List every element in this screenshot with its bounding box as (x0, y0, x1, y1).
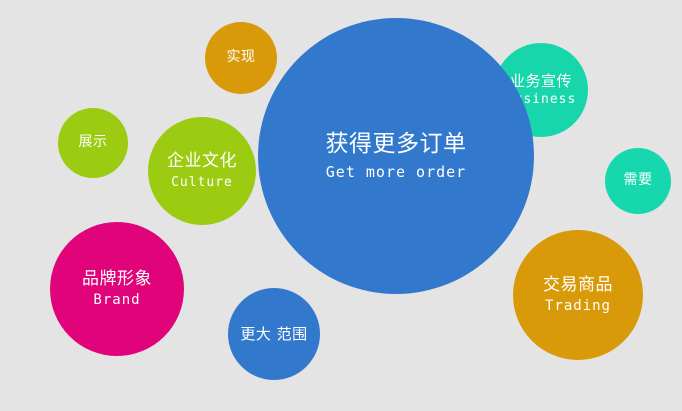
bubble-realize-label-cn: 实现 (227, 49, 256, 66)
bubble-main-label-cn: 获得更多订单 (326, 130, 467, 158)
bubble-scope[interactable]: 更大 范围 (228, 288, 320, 380)
bubble-main-label-en: Get more order (326, 163, 466, 181)
bubble-culture-label-cn: 企业文化 (167, 151, 237, 172)
bubble-brand-label-cn: 品牌形象 (82, 269, 152, 290)
bubble-scope-label-cn: 更大 范围 (240, 325, 307, 343)
bubble-need-label-cn: 需要 (624, 172, 653, 189)
bubble-culture[interactable]: 企业文化 Culture (148, 117, 256, 225)
bubble-need[interactable]: 需要 (605, 148, 671, 214)
bubble-brand-label-en: Brand (93, 292, 140, 309)
bubble-trading-label-cn: 交易商品 (543, 275, 613, 296)
bubble-trading[interactable]: 交易商品 Trading (513, 230, 643, 360)
bubble-main-get-more-order[interactable]: 获得更多订单 Get more order (258, 18, 534, 294)
bubble-brand[interactable]: 品牌形象 Brand (50, 222, 184, 356)
bubble-culture-label-en: Culture (171, 175, 233, 191)
bubble-diagram-canvas: 实现 展示 业务宣传 Business 需要 企业文化 Culture 获得更多… (0, 0, 682, 411)
bubble-trading-label-en: Trading (545, 298, 611, 315)
bubble-display[interactable]: 展示 (58, 108, 128, 178)
bubble-display-label-cn: 展示 (79, 134, 108, 151)
bubble-business-label-cn: 业务宣传 (510, 72, 572, 90)
bubble-realize[interactable]: 实现 (205, 22, 277, 94)
